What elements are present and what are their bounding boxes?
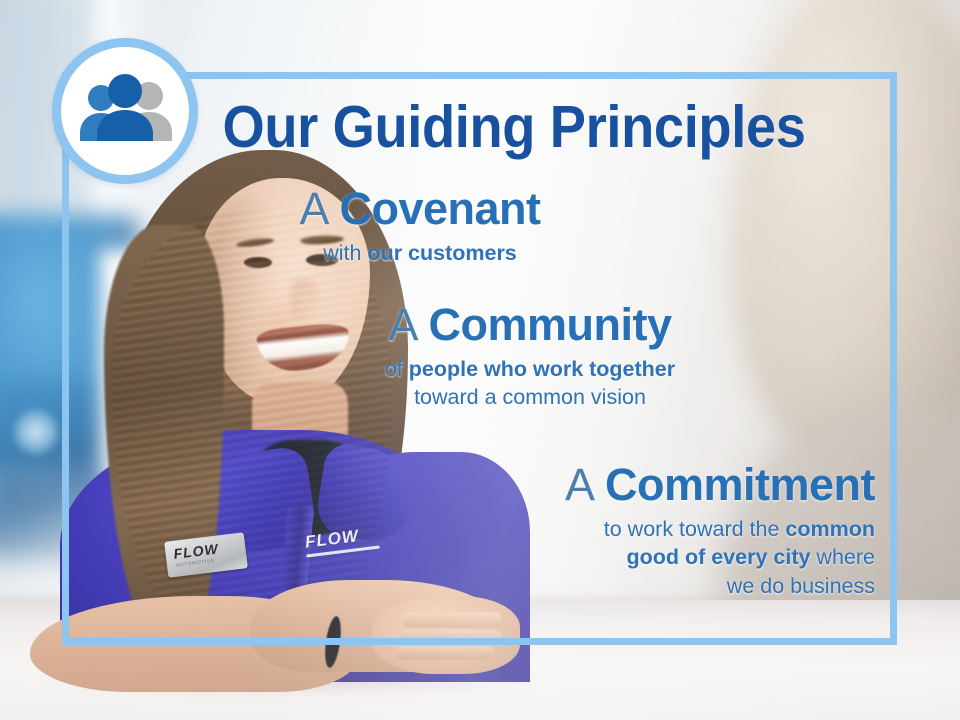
principle-commitment: A Commitment to work toward the common g… — [300, 462, 875, 601]
woman-finger — [398, 630, 502, 645]
woman-finger — [396, 646, 494, 660]
principle-covenant: A Covenant with our customers — [170, 186, 670, 267]
woman-finger — [402, 612, 502, 628]
principle-commitment-subtext: to work toward the common good of every … — [300, 515, 875, 601]
principle-lead-word: A — [388, 299, 428, 350]
principle-community-subtext: of people who work together toward a com… — [230, 355, 830, 412]
page-title: Our Guiding Principles — [38, 98, 921, 157]
blurred-vehicle-emblem — [14, 410, 58, 454]
principle-covenant-subtext: with our customers — [170, 239, 670, 268]
subtext-plain: of — [385, 357, 409, 381]
subtext-plain: we do business — [727, 574, 875, 598]
subtext-plain: toward a common vision — [414, 385, 646, 409]
principle-community: A Community of people who work together … — [230, 302, 830, 412]
subtext-plain: to work toward the — [604, 517, 786, 541]
subtext-plain: where — [810, 545, 875, 569]
guiding-principles-poster: FLOW AUTOMOTIVE FLOW — [0, 0, 960, 720]
principle-key-word: Commitment — [605, 459, 875, 510]
subtext-bold: common — [785, 517, 875, 541]
subtext-bold: good of every city — [626, 545, 810, 569]
principle-lead-word: A — [299, 183, 339, 234]
principle-lead-word: A — [565, 459, 605, 510]
principle-key-word: Covenant — [340, 183, 541, 234]
principle-commitment-heading: A Commitment — [300, 462, 875, 509]
subtext-plain: with — [323, 241, 367, 265]
principle-community-heading: A Community — [230, 302, 830, 349]
subtext-bold: people who work together — [409, 357, 675, 381]
principle-covenant-heading: A Covenant — [170, 186, 670, 233]
subtext-bold: our customers — [367, 241, 516, 265]
principle-key-word: Community — [429, 299, 672, 350]
